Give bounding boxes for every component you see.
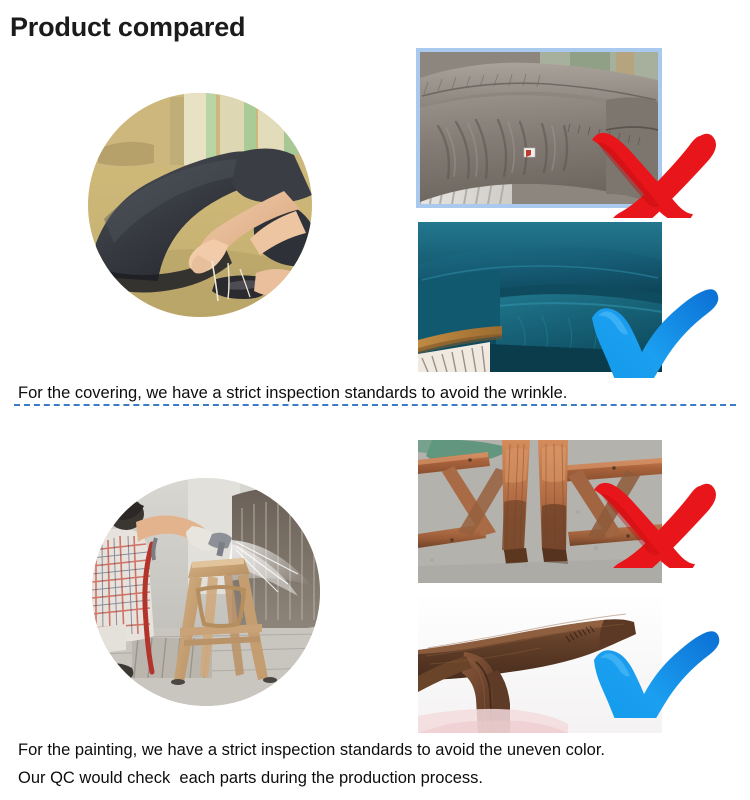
teal-velvet-sofa-illustration bbox=[418, 222, 662, 372]
covering-approve-photo bbox=[418, 222, 662, 372]
covering-reject-photo bbox=[416, 48, 662, 208]
covering-process-illustration bbox=[88, 93, 312, 317]
painting-approve-photo bbox=[418, 592, 662, 733]
wrinkled-grey-sofa-illustration bbox=[420, 52, 658, 204]
painting-caption: For the painting, we have a strict inspe… bbox=[18, 741, 605, 760]
page-title: Product compared bbox=[10, 12, 245, 43]
smooth-walnut-joint-illustration bbox=[418, 592, 662, 733]
uneven-paint-frame-illustration bbox=[418, 440, 662, 583]
section-divider bbox=[14, 404, 736, 406]
painting-reject-photo bbox=[418, 440, 662, 583]
covering-process-photo bbox=[88, 93, 312, 317]
painting-process-photo bbox=[92, 478, 320, 706]
covering-caption: For the covering, we have a strict inspe… bbox=[18, 384, 567, 403]
qc-caption: Our QC would check each parts during the… bbox=[18, 769, 483, 788]
spray-painting-illustration bbox=[92, 478, 320, 706]
product-comparison-page: Product compared bbox=[0, 0, 750, 800]
